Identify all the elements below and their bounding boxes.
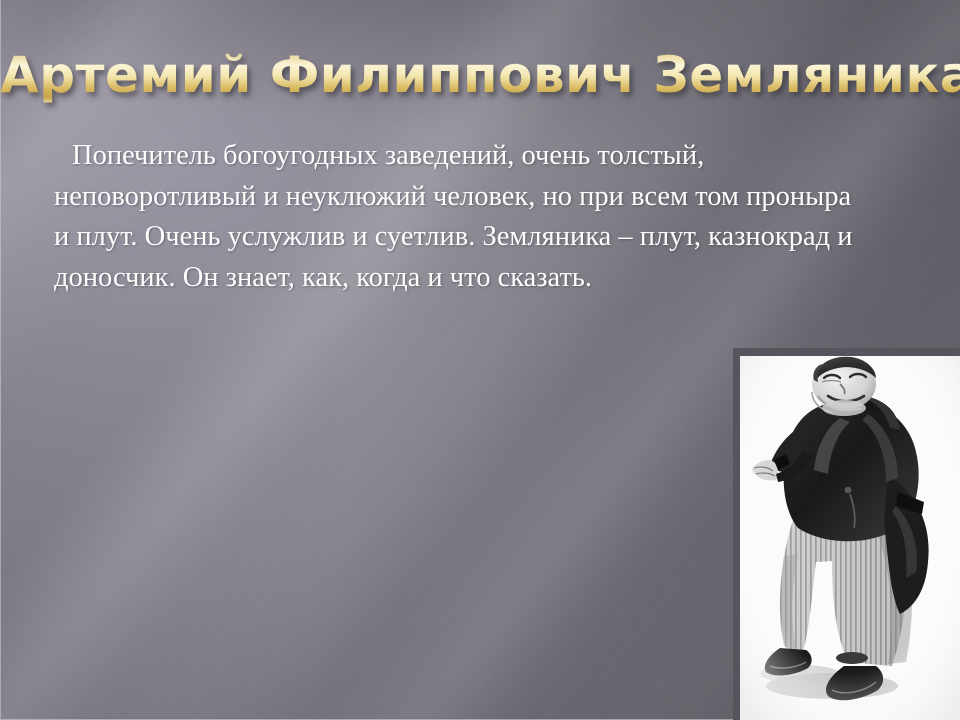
slide-title: Артемий Филиппович Земляника [0,46,960,104]
illustration-image [740,356,960,720]
presentation-slide: Артемий Филиппович Земляника Попечитель … [0,0,960,720]
slide-body-text: Попечитель богоугодных заведений, очень … [54,136,866,298]
illustration-frame [733,348,960,720]
